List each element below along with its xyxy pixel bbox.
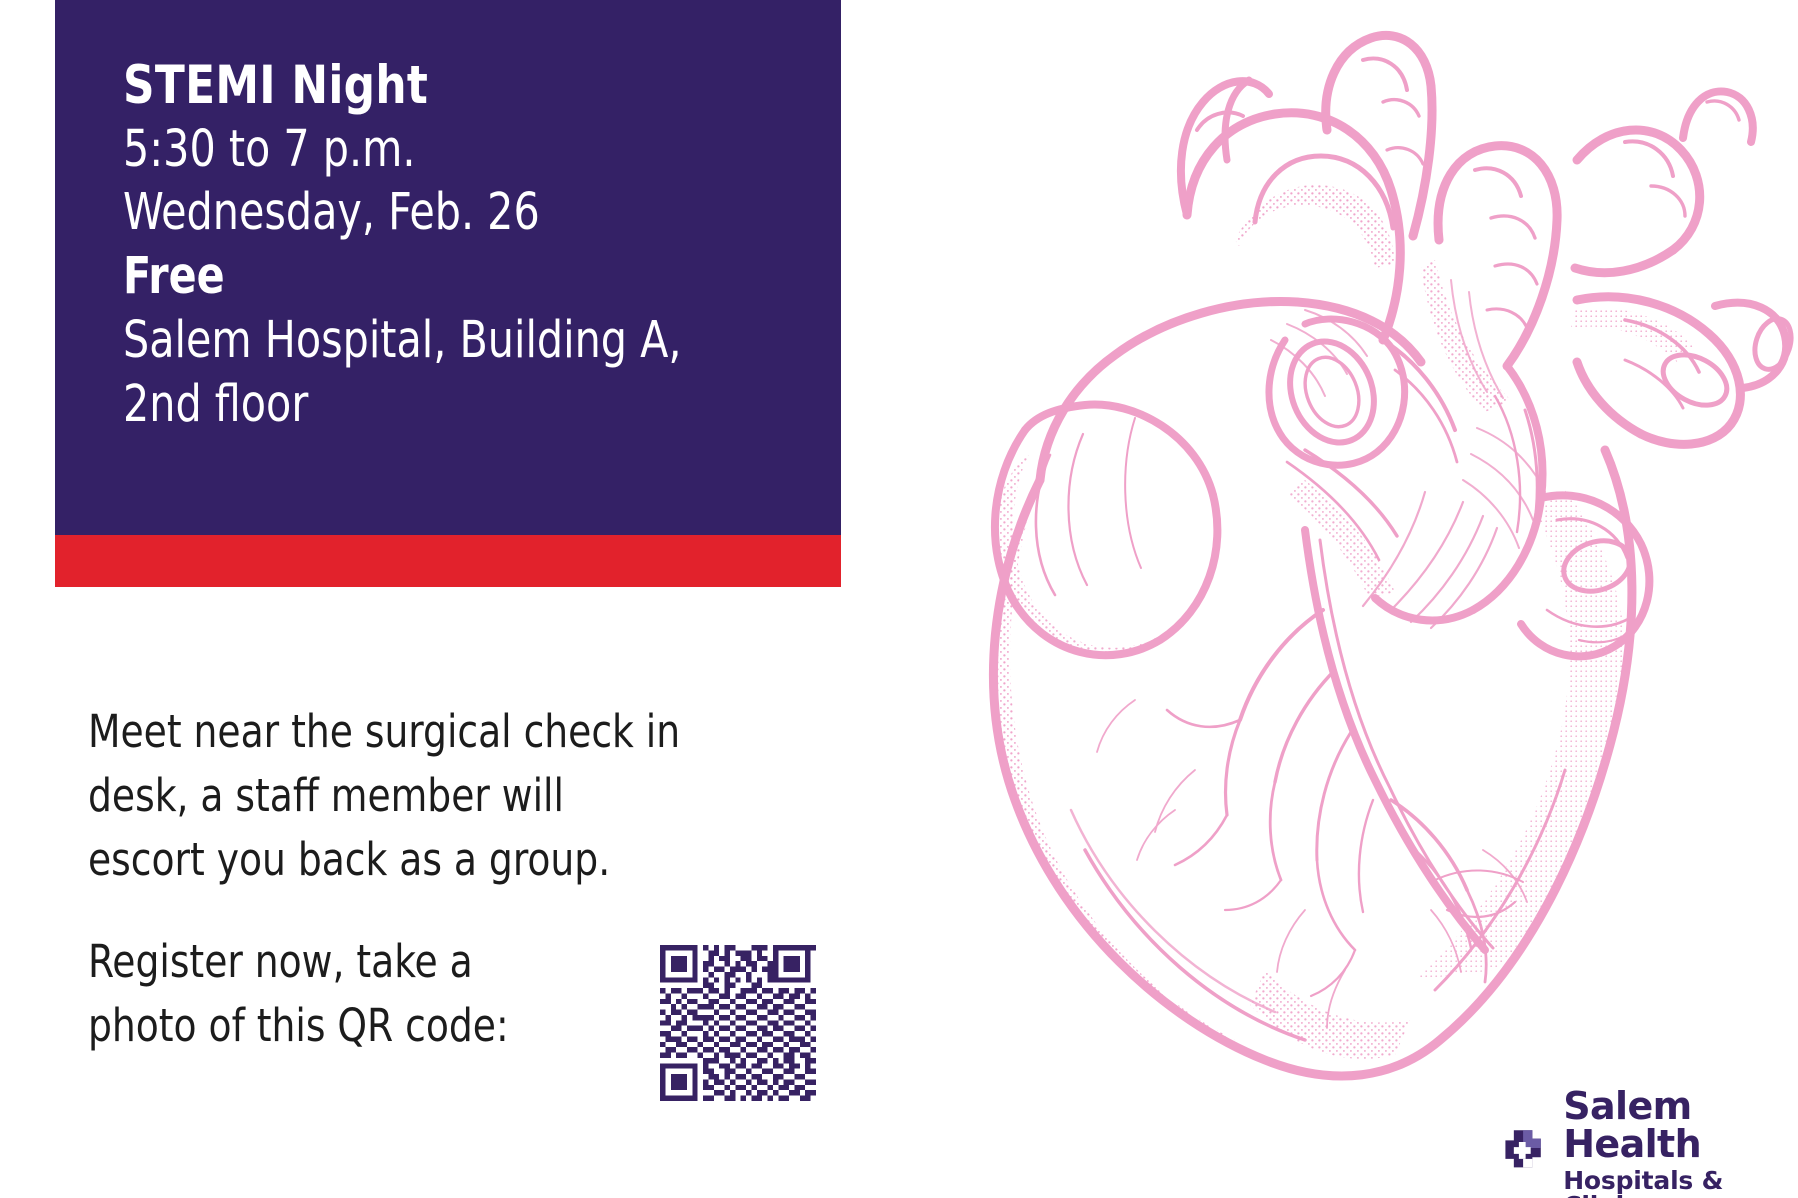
instructions-block: Meet near the surgical check in desk, a … (88, 700, 728, 892)
event-time: 5:30 to 7 p.m. (123, 118, 726, 182)
anatomical-heart-illustration (835, 10, 1795, 1085)
register-text: Register now, take a photo of this QR co… (88, 930, 572, 1058)
event-date: Wednesday, Feb. 26 (123, 181, 726, 245)
qr-code-image (660, 945, 816, 1101)
event-title: STEMI Night (123, 55, 739, 118)
logo-line-1: Salem Health (1563, 1087, 1798, 1163)
qr-code[interactable] (660, 945, 816, 1101)
salem-health-cross-logo (1497, 1122, 1549, 1184)
salem-health-logo: Salem Health Hospitals & Clinics (1497, 1087, 1798, 1198)
event-location: Salem Hospital, Building A, 2nd floor (123, 309, 726, 437)
logo-wordmark: Salem Health Hospitals & Clinics (1563, 1087, 1798, 1198)
poster-canvas: STEMI Night 5:30 to 7 p.m. Wednesday, Fe… (0, 0, 1798, 1198)
event-cost: Free (123, 245, 726, 309)
register-block: Register now, take a photo of this QR co… (88, 930, 608, 1058)
logo-line-2: Hospitals & Clinics (1563, 1168, 1798, 1198)
event-details-block: STEMI Night 5:30 to 7 p.m. Wednesday, Fe… (55, 0, 841, 535)
instructions-text: Meet near the surgical check in desk, a … (88, 700, 683, 892)
red-accent-bar (55, 535, 841, 587)
